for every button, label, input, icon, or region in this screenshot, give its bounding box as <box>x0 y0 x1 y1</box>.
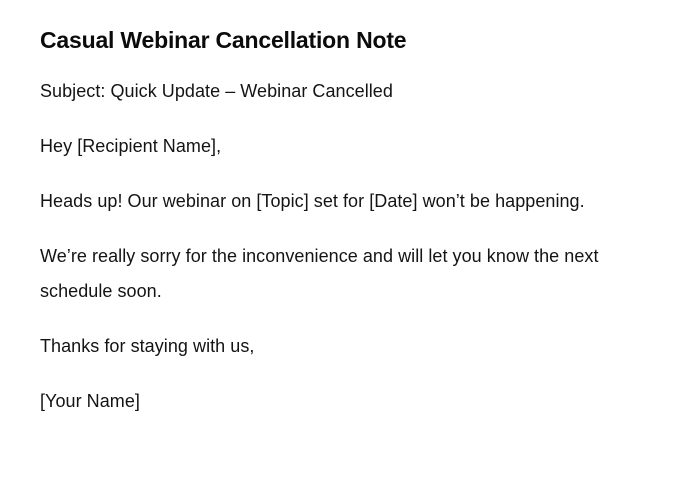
signature-line: [Your Name] <box>40 384 622 419</box>
page-title: Casual Webinar Cancellation Note <box>40 25 640 55</box>
document-page: Casual Webinar Cancellation Note Subject… <box>0 0 700 495</box>
announcement-paragraph: Heads up! Our webinar on [Topic] set for… <box>40 184 622 219</box>
apology-paragraph: We’re really sorry for the inconvenience… <box>40 239 622 309</box>
document-body: Subject: Quick Update – Webinar Cancelle… <box>40 74 622 419</box>
salutation: Hey [Recipient Name], <box>40 129 622 164</box>
subject-line: Subject: Quick Update – Webinar Cancelle… <box>40 74 622 109</box>
closing-line: Thanks for staying with us, <box>40 329 622 364</box>
